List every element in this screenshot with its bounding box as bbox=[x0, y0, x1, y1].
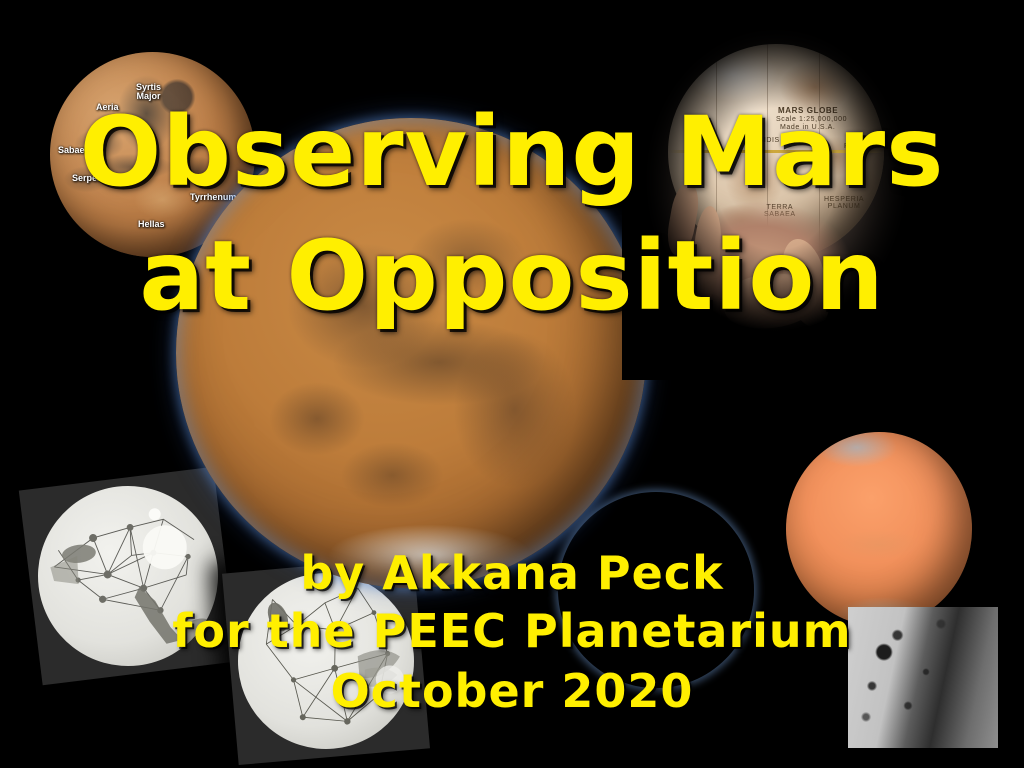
canal-sketch-center-plate bbox=[222, 557, 430, 765]
mars-globe-photo-image: MARS GLOBEScale 1:25,000,000Made in U.S.… bbox=[642, 28, 910, 360]
mars-map-label: Aeria bbox=[96, 103, 119, 112]
mars-map-label: Syrtis Major bbox=[136, 83, 161, 102]
canal-sketch-left-disc bbox=[28, 476, 229, 677]
mars-main-limb-glow bbox=[176, 118, 646, 588]
mars-main-disc-image bbox=[176, 118, 646, 588]
globe-photo-vignette bbox=[622, 8, 930, 380]
mars-map-label: Sabaeus bbox=[58, 146, 95, 155]
mars-dust-storm-disc-image bbox=[786, 432, 972, 626]
canal-sketch-center-disc bbox=[231, 566, 422, 757]
canal-sketch-center-lines bbox=[231, 566, 422, 757]
mars-map-label: Hellas bbox=[138, 220, 165, 229]
canal-sketch-left-plate bbox=[19, 467, 237, 685]
mars-map-label: Serpentis bbox=[72, 174, 113, 183]
presentation-title-slide: Syrtis MajorAeriaSabaeusSerpentisTyrrhen… bbox=[0, 0, 1024, 768]
image-collage-layer: Syrtis MajorAeriaSabaeusSerpentisTyrrhen… bbox=[0, 0, 1024, 768]
canal-sketch-left-lines bbox=[28, 476, 229, 677]
mariner-crater-image bbox=[848, 607, 998, 748]
mars-map-label: Tyrrhenum bbox=[190, 193, 236, 202]
mars-hst-disc-image bbox=[558, 492, 754, 688]
